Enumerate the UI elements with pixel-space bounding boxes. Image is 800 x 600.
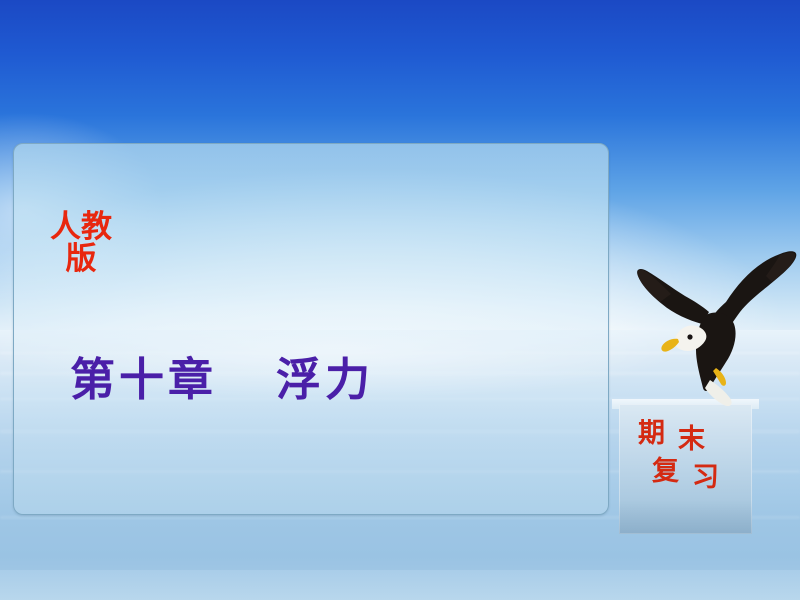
bottom-strip	[0, 570, 800, 600]
slide-title: 第十章 浮力	[70, 343, 374, 408]
content-panel	[13, 143, 609, 515]
review-char-1: 期	[638, 420, 665, 447]
review-char-2: 末	[678, 426, 705, 453]
review-char-4: 习	[692, 464, 719, 491]
presentation-slide: 期 末 复 习 人教版 第十章 浮力	[0, 0, 800, 600]
publisher-label: 人教版	[46, 212, 116, 276]
eagle-icon	[630, 240, 800, 415]
review-label: 期 末 复 习	[634, 414, 744, 516]
review-char-3: 复	[652, 458, 679, 485]
